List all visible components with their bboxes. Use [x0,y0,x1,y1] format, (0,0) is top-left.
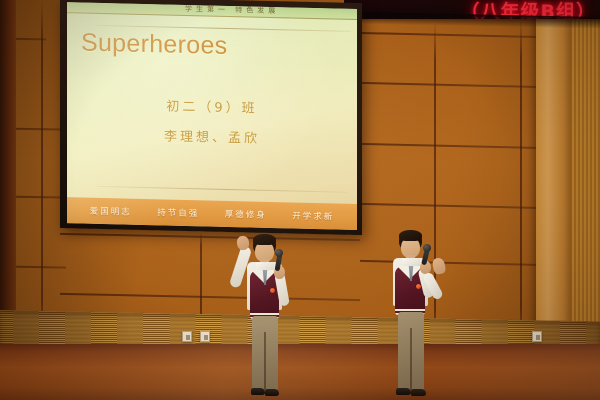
slide-title: Superheroes [81,28,227,60]
wall-outlet [182,331,192,342]
slide-motto-2: 持节自强 [157,206,199,219]
slide-header-text: 学生第一 特色发展 [185,4,279,16]
wall-seam-vertical [41,0,43,340]
slide-motto-1: 爱国明志 [90,205,132,218]
slide-class-line: 初二（9）班 [67,93,357,119]
student-right-shoe [411,389,426,396]
slide-motto-3: 厚德修身 [225,208,267,221]
projection-screen: 学生第一 特色发展 Superheroes 初二（9）班 李理想、孟欣 爱国明志… [60,0,362,235]
student-left-school-badge [270,288,275,293]
student-right-hair-fringe [399,230,422,241]
wall-left-jamb [0,0,16,346]
student-right-school-badge [416,284,421,289]
student-right-microphone-head [423,244,431,252]
wall-pillar [536,0,570,352]
slide-header-strip: 学生第一 特色发展 [67,2,357,20]
slide-motto-4: 开学求新 [292,209,334,222]
projection-screen-frame: 学生第一 特色发展 Superheroes 初二（9）班 李理想、孟欣 爱国明志… [60,0,362,235]
stage-scene: （八年级B组） 学生第一 特色发展 Superheroes 初二（9）班 李理想… [0,0,600,400]
student-left [225,228,300,398]
student-left-shoe [251,388,265,395]
student-left-shoe [265,389,279,396]
wall-outlet [200,331,210,342]
wall-seam-vertical [520,18,522,348]
student-left-microphone-head [275,249,283,257]
student-left-leg-separation [264,332,266,390]
student-right-leg-separation [410,328,412,390]
slide-divider-bottom [97,186,347,193]
projected-slide: 学生第一 特色发展 Superheroes 初二（9）班 李理想、孟欣 爱国明志… [67,2,357,230]
student-right-gesture-hand [431,257,446,275]
stage-floor-reflection [0,344,600,400]
wall-ribbed-panel [572,0,600,352]
wall-outlet [532,331,542,342]
student-left-hair-fringe [253,234,276,245]
student-right [378,224,450,396]
slide-footer-banner: 爱国明志 持节自强 厚德修身 开学求新 [67,197,357,230]
slide-presenters-line: 李理想、孟欣 [67,123,357,149]
student-right-shoe [396,388,411,395]
